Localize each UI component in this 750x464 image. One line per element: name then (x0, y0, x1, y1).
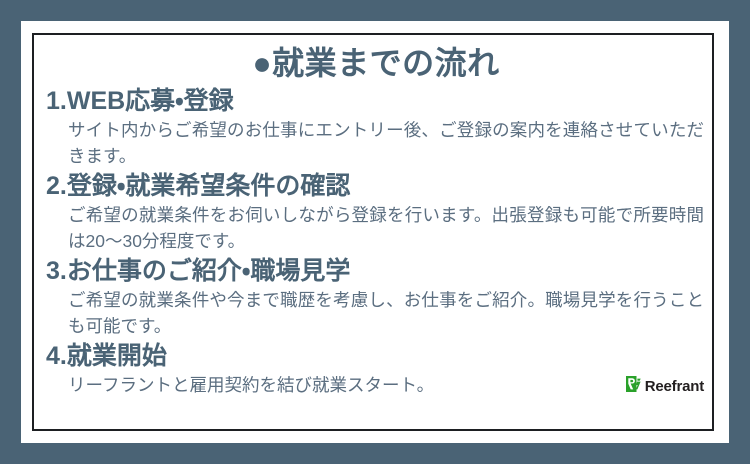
page-title: ●就業までの流れ (46, 42, 706, 84)
logo-wordmark: Reefrant (645, 379, 704, 394)
step-4-heading: 4.就業開始 (46, 340, 706, 372)
poster-content: ●就業までの流れ 1.WEB応募・登録 サイト内からご希望のお仕事にエントリー後… (34, 35, 712, 429)
step-item-4: 4.就業開始 リーフラントと雇用契約を結び就業スタート。 Reefrant (46, 340, 706, 398)
step-3-heading: 3.お仕事のご紹介・職場見学 (46, 255, 706, 287)
step-2-body: ご希望の就業条件をお伺いしながら登録を行います。出張登録も可能で所要時間は20〜… (46, 202, 706, 254)
company-logo: Reefrant (626, 375, 704, 397)
step-1-body: サイト内からご希望のお仕事にエントリー後、ご登録の案内を連絡させていただきます。 (46, 117, 706, 169)
reefrant-r-mark-icon (626, 375, 644, 397)
step-4-body: リーフラントと雇用契約を結び就業スタート。 (46, 372, 706, 398)
step-2-heading: 2.登録・就業希望条件の確認 (46, 170, 706, 202)
step-item-3: 3.お仕事のご紹介・職場見学 ご希望の就業条件や今まで職歴を考慮し、お仕事をご紹… (46, 255, 706, 339)
step-item-1: 1.WEB応募・登録 サイト内からご希望のお仕事にエントリー後、ご登録の案内を連… (46, 85, 706, 169)
poster-root: ●就業までの流れ 1.WEB応募・登録 サイト内からご希望のお仕事にエントリー後… (0, 0, 750, 464)
step-item-2: 2.登録・就業希望条件の確認 ご希望の就業条件をお伺いしながら登録を行います。出… (46, 170, 706, 254)
step-3-body: ご希望の就業条件や今まで職歴を考慮し、お仕事をご紹介。職場見学を行うことも可能で… (46, 287, 706, 339)
poster-inner-frame: ●就業までの流れ 1.WEB応募・登録 サイト内からご希望のお仕事にエントリー後… (32, 33, 714, 431)
poster-paper: ●就業までの流れ 1.WEB応募・登録 サイト内からご希望のお仕事にエントリー後… (21, 21, 729, 443)
step-1-heading: 1.WEB応募・登録 (46, 85, 706, 117)
